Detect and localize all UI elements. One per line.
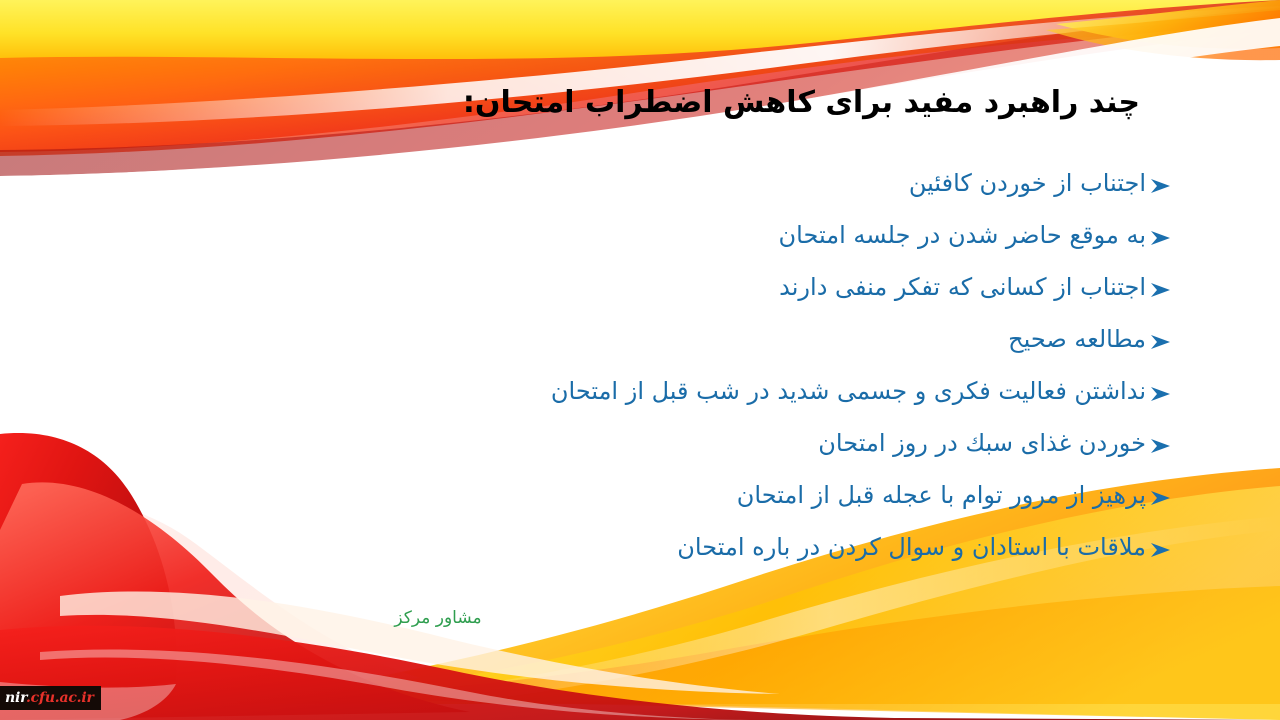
list-item-label: پرهیز از مرور توام با عجله قبل از امتحان — [737, 469, 1146, 521]
list-item-label: مطالعه صحیح — [1008, 313, 1146, 365]
list-item-label: اجتناب از خوردن کافئین — [909, 157, 1146, 209]
list-item-label: ملاقات با استادان و سوال کردن در باره ام… — [677, 521, 1146, 573]
list-item-label: اجتناب از کسانی که تفکر منفی دارند — [779, 261, 1146, 313]
arrow-bullet-icon — [1146, 523, 1176, 575]
arrow-bullet-icon — [1146, 471, 1176, 523]
list-item: پرهیز از مرور توام با عجله قبل از امتحان — [0, 469, 1176, 521]
list-item: خوردن غذای سبك در روز امتحان — [0, 417, 1176, 469]
slide-content: چند راهبرد مفید برای کاهش اضطراب امتحان:… — [0, 0, 1280, 720]
list-item: ملاقات با استادان و سوال کردن در باره ام… — [0, 521, 1176, 573]
list-item-label: خوردن غذای سبك در روز امتحان — [818, 417, 1146, 469]
url-host-main: nir — [5, 690, 26, 706]
list-item: نداشتن فعالیت فکری و جسمی شدید در شب قبل… — [0, 365, 1176, 417]
list-item: مطالعه صحیح — [0, 313, 1176, 365]
list-item: اجتناب از کسانی که تفکر منفی دارند — [0, 261, 1176, 313]
footer-note: مشاور مرکز — [358, 608, 518, 628]
page-title: چند راهبرد مفید برای کاهش اضطراب امتحان: — [0, 84, 1140, 122]
site-url-badge: nir.cfu.ac.ir — [0, 686, 101, 710]
slide-canvas: چند راهبرد مفید برای کاهش اضطراب امتحان:… — [0, 0, 1280, 720]
list-item-label: نداشتن فعالیت فکری و جسمی شدید در شب قبل… — [551, 365, 1146, 417]
arrow-bullet-icon — [1146, 159, 1176, 211]
strategy-bullet-list: اجتناب از خوردن کافئین به موقع حاضر شدن … — [0, 157, 1176, 573]
list-item: اجتناب از خوردن کافئین — [0, 157, 1176, 209]
arrow-bullet-icon — [1146, 211, 1176, 263]
arrow-bullet-icon — [1146, 263, 1176, 315]
arrow-bullet-icon — [1146, 367, 1176, 419]
url-host-rest: .cfu.ac.ir — [26, 690, 94, 706]
arrow-bullet-icon — [1146, 419, 1176, 471]
list-item: به موقع حاضر شدن در جلسه امتحان — [0, 209, 1176, 261]
arrow-bullet-icon — [1146, 315, 1176, 367]
list-item-label: به موقع حاضر شدن در جلسه امتحان — [779, 209, 1146, 261]
